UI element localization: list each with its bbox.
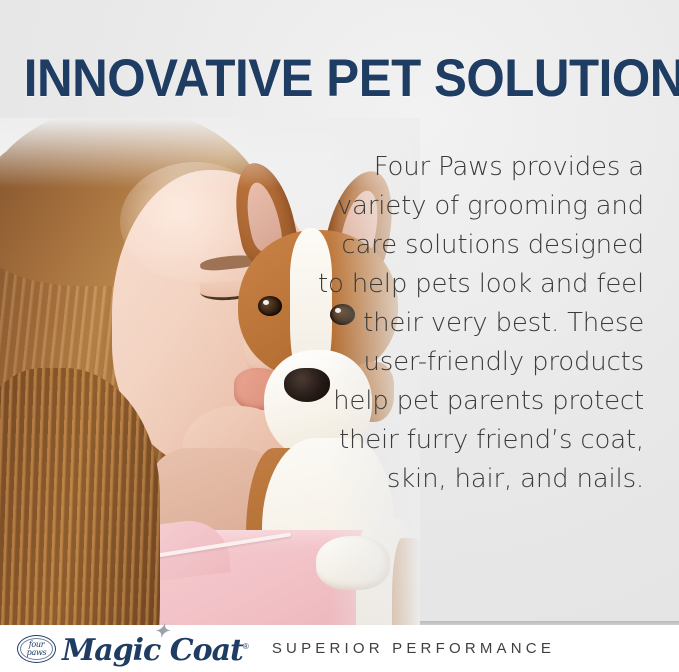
banner-headline: INNOVATIVE PET SOLUTIONS	[24, 52, 655, 105]
magic-coat-text: Magic Coat	[62, 633, 243, 668]
registered-trademark-icon: ®	[243, 642, 248, 651]
puppy-left-eye	[258, 296, 282, 316]
brand-footer: four paws Magic Coat® ✦ SUPERIOR PERFORM…	[0, 625, 679, 672]
banner-body-paragraph: Four Paws provides a variety of grooming…	[314, 148, 644, 499]
four-paws-logo-line2: paws	[27, 649, 47, 657]
brand-tagline: SUPERIOR PERFORMANCE	[272, 640, 555, 657]
banner-body-copy: Four Paws provides a variety of grooming…	[314, 148, 644, 499]
four-paws-logo-line1: four	[29, 641, 45, 649]
star-icon: ✦	[154, 623, 172, 641]
promo-banner: INNOVATIVE PET SOLUTIONS Four Paws provi…	[0, 0, 679, 672]
magic-coat-wordmark: Magic Coat® ✦	[62, 632, 256, 666]
four-paws-logo-icon: four paws	[17, 635, 56, 663]
